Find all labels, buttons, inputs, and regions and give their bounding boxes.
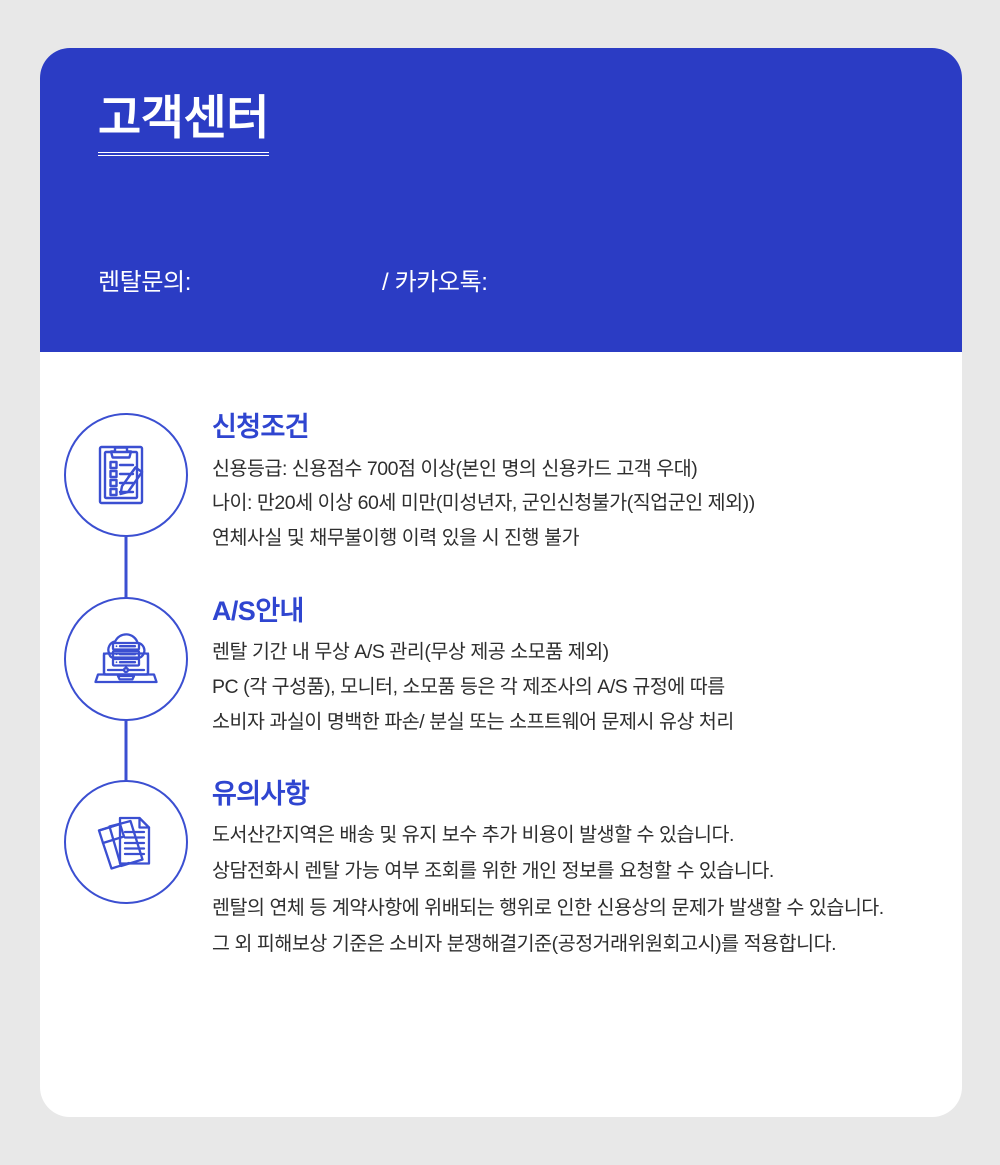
customer-center-card: 고객센터 렌탈문의:/ 카카오톡: 월~금요일 AM 09:00 ~ PM 18… [40, 48, 962, 1117]
section-line: 그 외 피해보상 기준은 소비자 분쟁해결기준(공정거래위원회고시)를 적용합니… [212, 931, 938, 958]
page-root: 고객센터 렌탈문의:/ 카카오톡: 월~금요일 AM 09:00 ~ PM 18… [0, 0, 1000, 1165]
section-as-guide: A/S안내 렌탈 기간 내 무상 A/S 관리(무상 제공 소모품 제외) PC… [40, 597, 962, 737]
section-notices: 유의사항 도서산간지역은 배송 및 유지 보수 추가 비용이 발생할 수 있습니… [40, 780, 962, 968]
section-line: 나이: 만20세 이상 60세 미만(미성년자, 군인신청불가(직업군인 제외)… [212, 490, 938, 518]
icon-column [40, 413, 212, 537]
laptop-cloud-server-icon [64, 597, 188, 721]
rental-inquiry-label: 렌탈문의: [98, 269, 191, 296]
section-line: 소비자 과실이 명백한 파손/ 분실 또는 소프트웨어 문제시 유상 처리 [212, 709, 938, 737]
section-line: 상담전화시 렌탈 가능 여부 조회를 위한 개인 정보를 요청할 수 있습니다. [212, 858, 938, 885]
section-line: 연체사실 및 채무불이행 이력 있을 시 진행 불가 [212, 525, 938, 553]
clipboard-checklist-pencil-icon [64, 413, 188, 537]
section-body: 신용등급: 신용점수 700점 이상(본인 명의 신용카드 고객 우대) 나이:… [212, 456, 938, 553]
contact-line-channels: 렌탈문의:/ 카카오톡: [98, 264, 962, 303]
kakao-talk-label: 카카오톡: [395, 269, 488, 296]
text-column: A/S안내 렌탈 기간 내 무상 A/S 관리(무상 제공 소모품 제외) PC… [212, 597, 962, 737]
stacked-documents-icon [64, 780, 188, 904]
section-body: 렌탈 기간 내 무상 A/S 관리(무상 제공 소모품 제외) PC (각 구성… [212, 639, 938, 736]
section-line: 렌탈 기간 내 무상 A/S 관리(무상 제공 소모품 제외) [212, 639, 938, 667]
contact-separator: / [382, 269, 388, 296]
text-column: 유의사항 도서산간지역은 배송 및 유지 보수 추가 비용이 발생할 수 있습니… [212, 780, 962, 968]
section-line: 렌탈의 연체 등 계약사항에 위배되는 행위로 인한 신용상의 문제가 발생할 … [212, 895, 938, 922]
section-line: 신용등급: 신용점수 700점 이상(본인 명의 신용카드 고객 우대) [212, 456, 938, 484]
section-line: 도서산간지역은 배송 및 유지 보수 추가 비용이 발생할 수 있습니다. [212, 822, 938, 849]
section-application-conditions: 신청조건 신용등급: 신용점수 700점 이상(본인 명의 신용카드 고객 우대… [40, 413, 962, 553]
section-title: 유의사항 [212, 780, 938, 810]
icon-column [40, 780, 212, 904]
section-body: 도서산간지역은 배송 및 유지 보수 추가 비용이 발생할 수 있습니다. 상담… [212, 822, 938, 958]
text-column: 신청조건 신용등급: 신용점수 700점 이상(본인 명의 신용카드 고객 우대… [212, 413, 962, 553]
card-body: 신청조건 신용등급: 신용점수 700점 이상(본인 명의 신용카드 고객 우대… [40, 352, 962, 967]
section-line: PC (각 구성품), 모니터, 소모품 등은 각 제조사의 A/S 규정에 따… [212, 674, 938, 702]
section-title: 신청조건 [212, 413, 938, 443]
section-title: A/S안내 [212, 597, 938, 627]
icon-column [40, 597, 212, 721]
card-header: 고객센터 렌탈문의:/ 카카오톡: 월~금요일 AM 09:00 ~ PM 18… [40, 48, 962, 352]
page-title: 고객센터 [98, 92, 269, 156]
